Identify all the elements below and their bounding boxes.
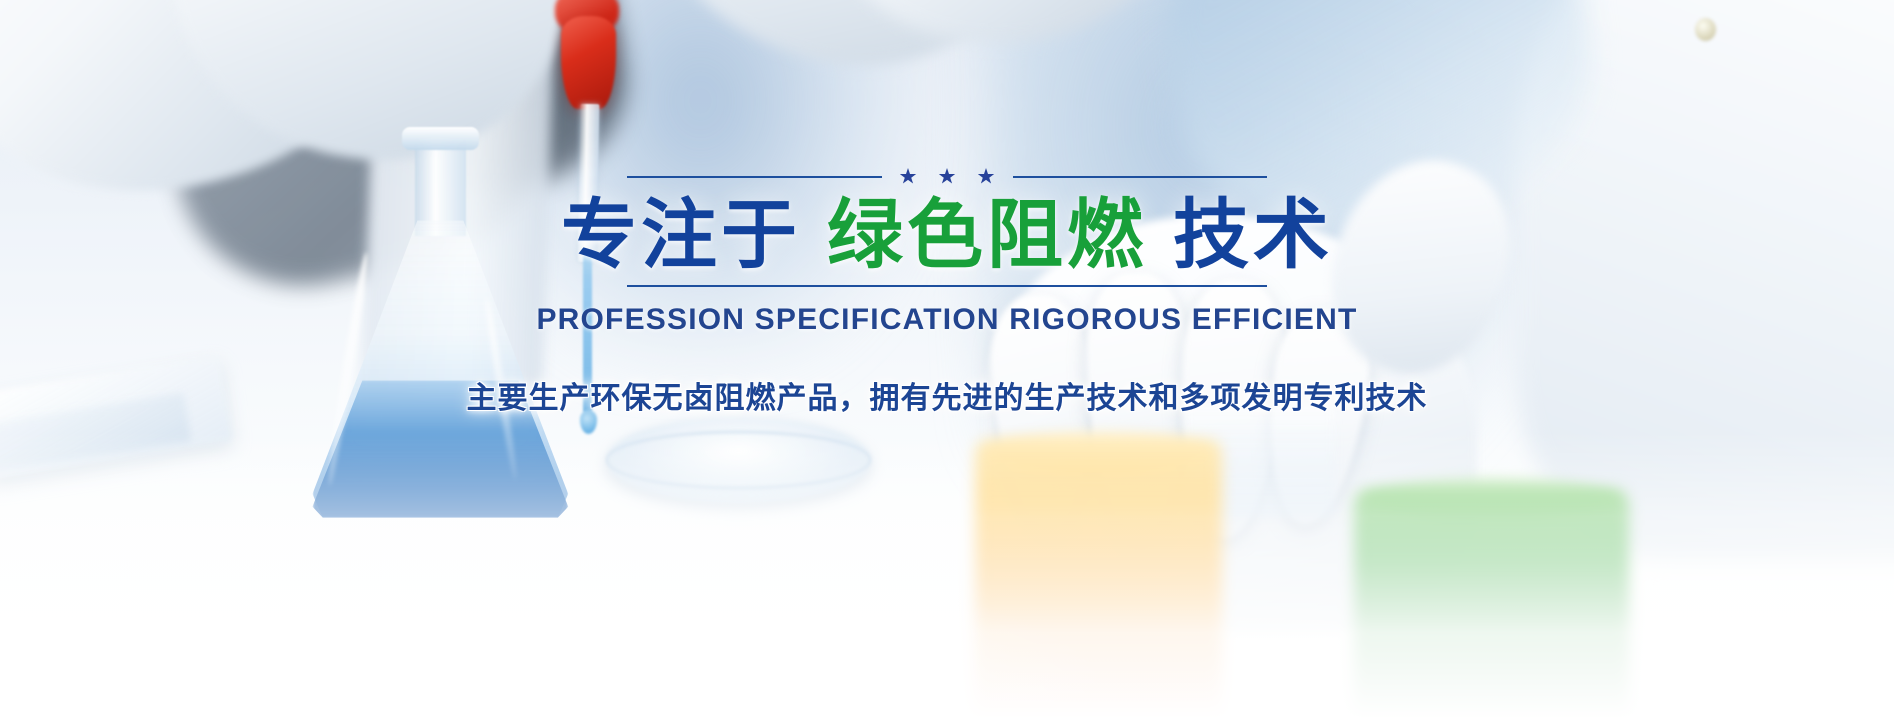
- star-icon: [900, 168, 917, 185]
- star-icon: [978, 168, 995, 185]
- rule-line-bottom: [627, 285, 1267, 287]
- rule-line-right: [1013, 176, 1268, 178]
- banner-subtitle-english: PROFESSION SPECIFICATION RIGOROUS EFFICI…: [536, 303, 1357, 337]
- banner-text-overlay: 专注于绿色阻燃技术 PROFESSION SPECIFICATION RIGOR…: [0, 0, 1894, 719]
- decorative-rule-with-stars: [627, 168, 1267, 185]
- banner-tagline-chinese: 主要生产环保无卤阻燃产品，拥有先进的生产技术和多项发明专利技术: [467, 373, 1428, 417]
- star-group: [900, 168, 995, 185]
- title-part-focus: 专注于: [561, 193, 801, 278]
- title-part-green-flame-retardant: 绿色阻燃: [827, 193, 1147, 278]
- star-icon: [939, 168, 956, 185]
- title-part-technology: 技术: [1173, 193, 1333, 278]
- banner-title: 专注于绿色阻燃技术: [561, 195, 1333, 277]
- hero-banner: 专注于绿色阻燃技术 PROFESSION SPECIFICATION RIGOR…: [0, 0, 1894, 719]
- rule-line-left: [627, 176, 882, 178]
